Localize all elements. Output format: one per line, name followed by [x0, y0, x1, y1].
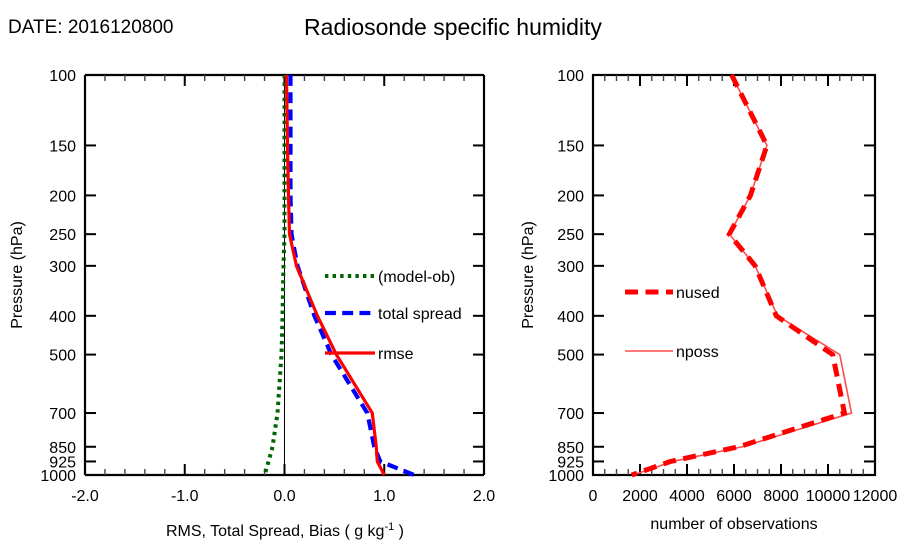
x-tick-label: 0.0	[273, 488, 295, 505]
x-tick-label: -2.0	[71, 488, 99, 505]
y-tick-label: 200	[49, 188, 76, 205]
series--model-ob-	[265, 75, 285, 475]
y-axis-title: Pressure (hPa)	[9, 221, 26, 329]
right-x-axis-title: number of observations	[650, 516, 817, 533]
x-tick-label: 8000	[763, 488, 799, 505]
panel-left: -2.0-1.00.01.02.010015020025030040050070…	[9, 68, 495, 505]
y-tick-label: 700	[49, 406, 76, 423]
date-label: DATE: 2016120800	[8, 17, 174, 38]
y-tick-label: 300	[49, 259, 76, 276]
y-tick-label: 250	[49, 227, 76, 244]
right-panel-legend-label-1: nposs	[676, 344, 719, 361]
left-panel-legend-label-0: (model-ob)	[378, 269, 455, 286]
x-tick-label: -1.0	[171, 488, 199, 505]
left-panel-legend-label-1: total spread	[378, 306, 462, 323]
x-tick-label: 2.0	[473, 488, 495, 505]
y-tick-label: 400	[557, 309, 584, 326]
figure-root: -2.0-1.00.01.02.010015020025030040050070…	[0, 0, 900, 560]
x-tick-label: 6000	[716, 488, 752, 505]
y-tick-label: 250	[557, 227, 584, 244]
x-tick-label: 4000	[669, 488, 705, 505]
left-x-axis-title: RMS, Total Spread, Bias ( g kg-1 )	[166, 521, 404, 540]
figure-header: DATE: 2016120800Radiosonde specific humi…	[8, 14, 602, 40]
y-tick-label: 500	[557, 348, 584, 365]
y-tick-label: 100	[49, 68, 76, 85]
right-panel-legend: nusednposs	[625, 285, 720, 361]
x-tick-label: 12000	[853, 488, 898, 505]
y-tick-label: 150	[49, 138, 76, 155]
y-tick-label: 300	[557, 259, 584, 276]
radiosonde-humidity-figure: -2.0-1.00.01.02.010015020025030040050070…	[0, 0, 900, 560]
y-tick-label: 700	[557, 406, 584, 423]
series-nused	[632, 75, 845, 475]
figure-title: Radiosonde specific humidity	[304, 14, 602, 40]
y-tick-label: 1000	[40, 468, 76, 485]
y-tick-label: 500	[49, 348, 76, 365]
x-tick-label: 0	[589, 488, 598, 505]
y-tick-label: 150	[557, 138, 584, 155]
y-tick-label: 1000	[548, 468, 584, 485]
left-panel-legend: (model-ob)total spreadrmse	[325, 269, 462, 363]
left-panel-legend-label-2: rmse	[378, 346, 414, 363]
y-axis-title: Pressure (hPa)	[520, 221, 537, 329]
x-tick-label: 10000	[806, 488, 851, 505]
x-tick-label: 2000	[622, 488, 658, 505]
y-tick-label: 400	[49, 309, 76, 326]
y-tick-label: 100	[557, 68, 584, 85]
series-nposs	[633, 75, 852, 475]
y-tick-label: 200	[557, 188, 584, 205]
right-panel-legend-label-0: nused	[676, 285, 720, 302]
x-tick-label: 1.0	[373, 488, 395, 505]
